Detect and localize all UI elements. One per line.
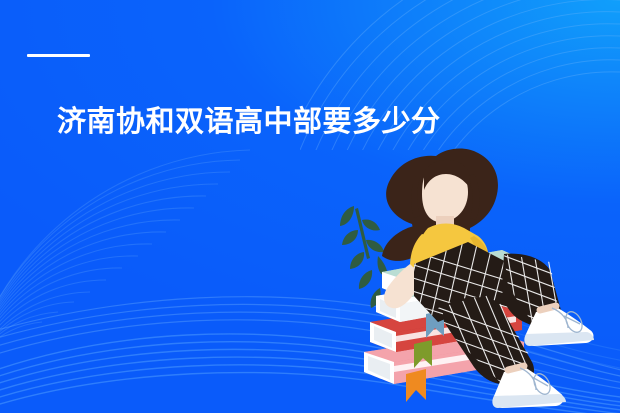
education-banner: 济南协和双语高中部要多少分: [0, 0, 620, 413]
bookmark-orange: [406, 369, 426, 402]
girl-sitting-on-books-illustration: [318, 146, 620, 413]
title-accent-rule: [27, 54, 90, 57]
page-title: 济南协和双语高中部要多少分: [57, 103, 441, 139]
